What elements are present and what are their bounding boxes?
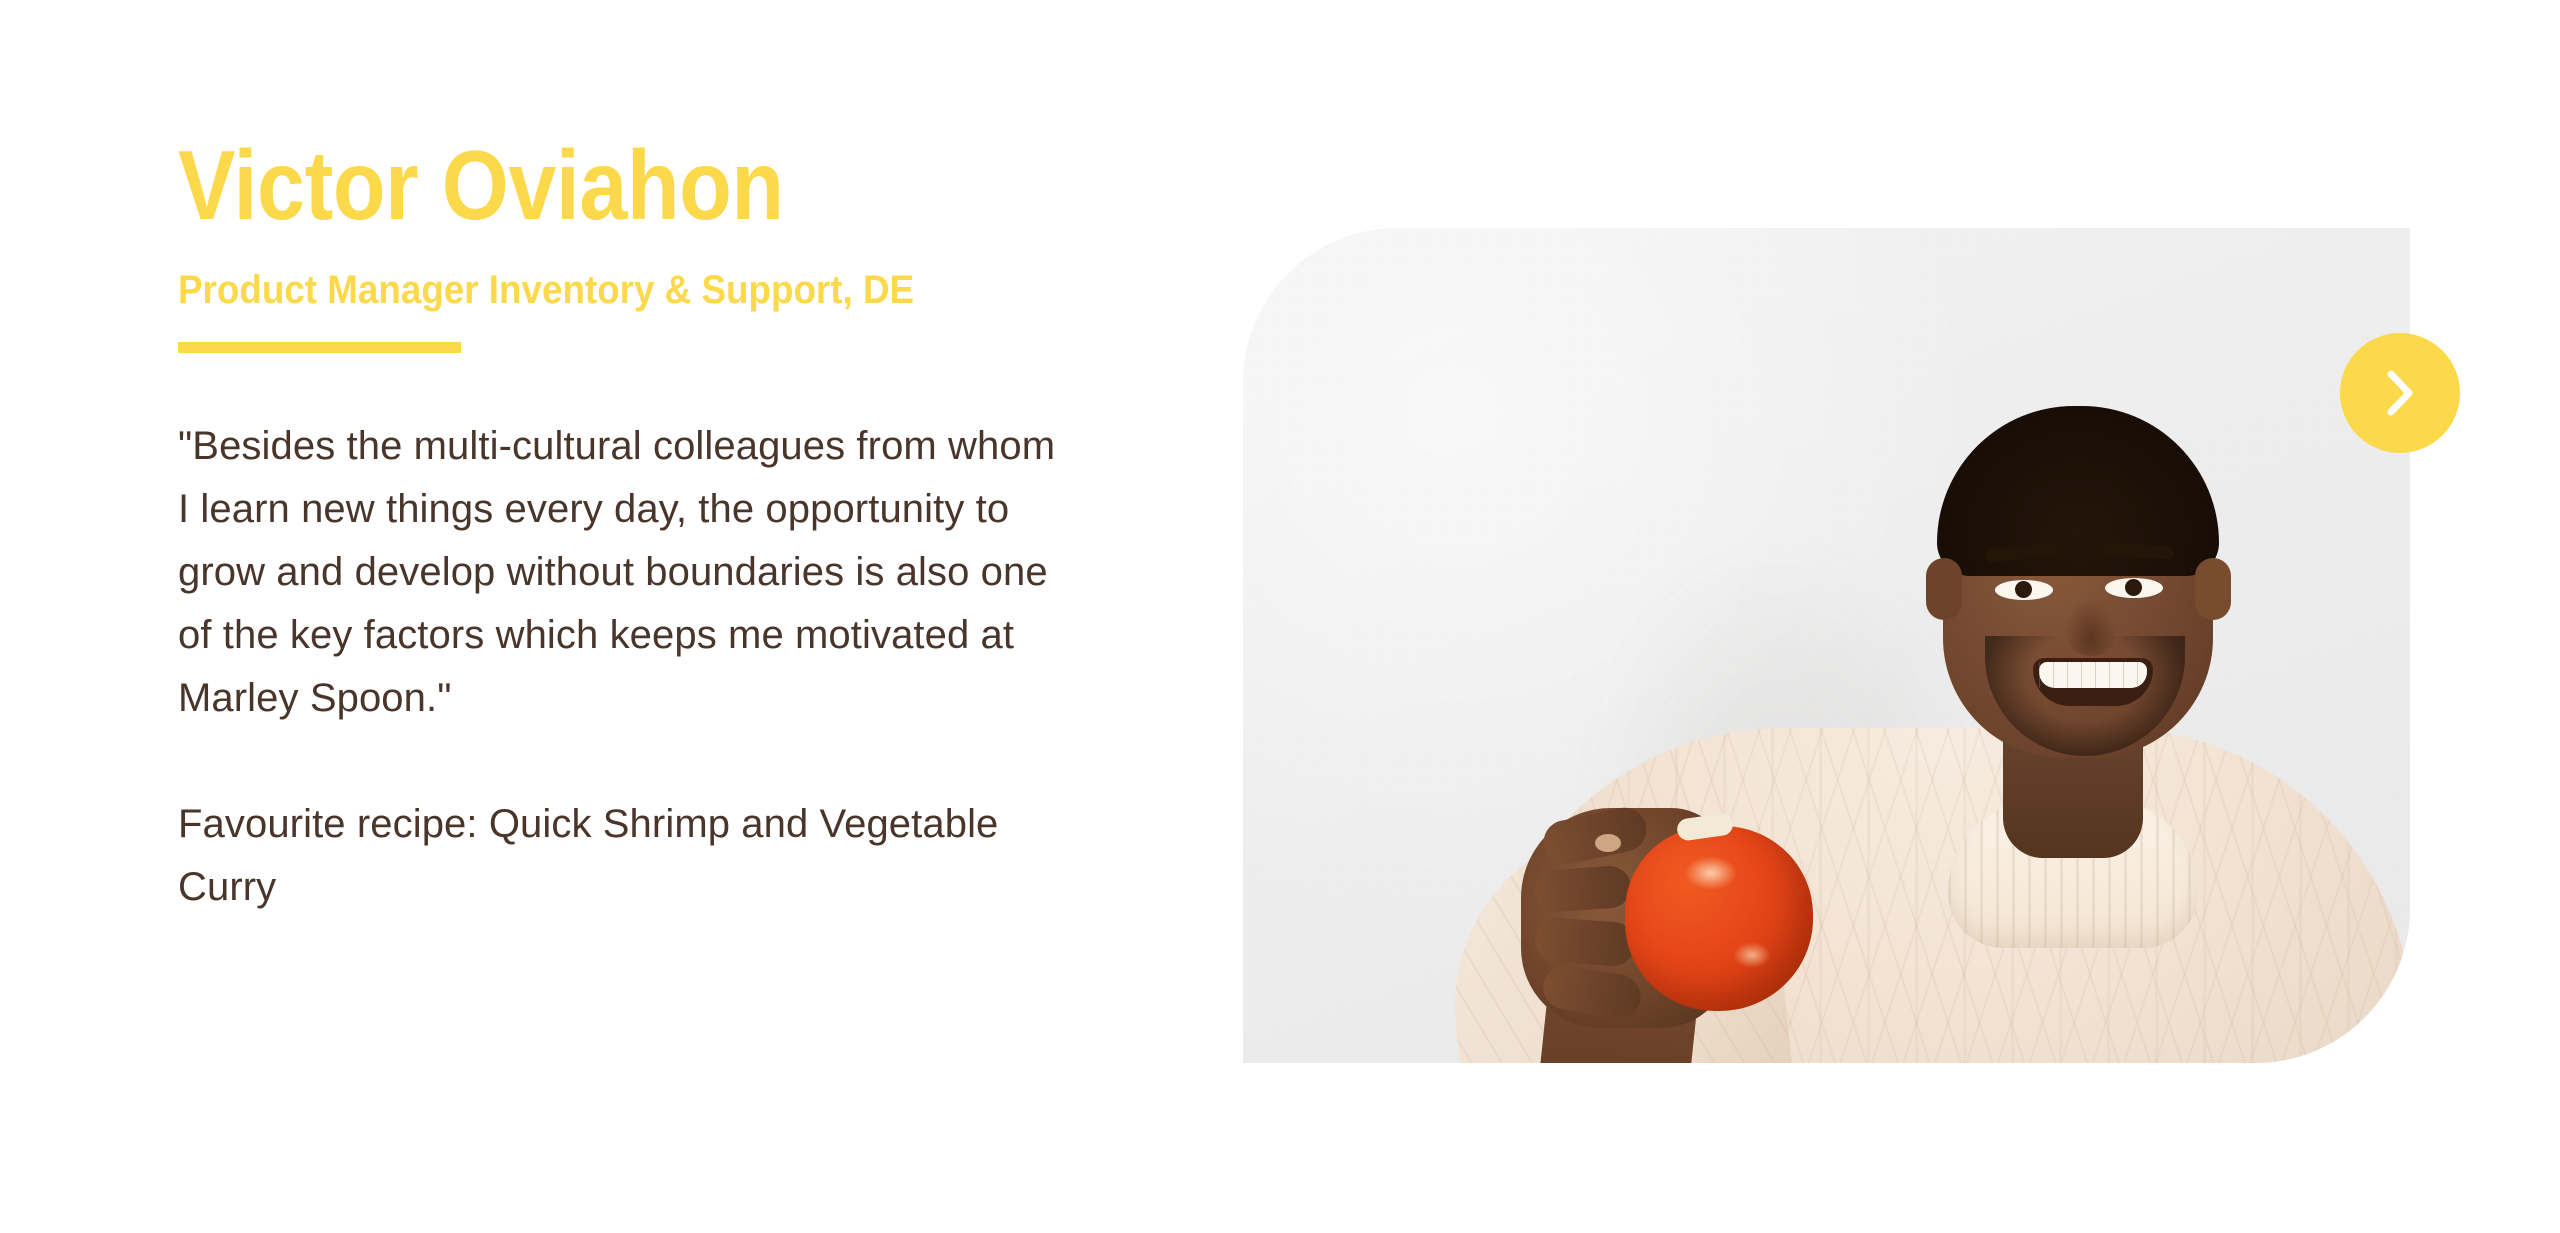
- left-pupil: [2015, 581, 2032, 598]
- paragraph-spacer: [178, 730, 1178, 793]
- accent-underline-rule: [178, 342, 461, 353]
- finger: [1534, 865, 1633, 914]
- left-eye: [1995, 580, 2053, 600]
- thumbnail-highlight: [1595, 834, 1621, 852]
- testimonial-text-column: Victor Oviahon Product Manager Inventory…: [178, 136, 1178, 919]
- hair: [1937, 406, 2219, 576]
- right-eye: [2105, 578, 2163, 598]
- person-name: Victor Oviahon: [178, 136, 1058, 234]
- right-ear: [2195, 558, 2231, 620]
- right-pupil: [2125, 579, 2142, 596]
- carousel-next-button[interactable]: [2340, 333, 2460, 453]
- left-ear: [1926, 558, 1962, 620]
- tomato: [1625, 826, 1813, 1011]
- tomato-highlight: [1685, 856, 1737, 890]
- portrait-illustration: [1243, 228, 2410, 1063]
- testimonial-quote: "Besides the multi-cultural colleagues f…: [178, 415, 1058, 730]
- chevron-right-icon: [2378, 367, 2422, 419]
- testimonial-slide: Victor Oviahon Product Manager Inventory…: [0, 0, 2560, 1233]
- teeth: [2039, 662, 2147, 688]
- tomato-highlight: [1733, 942, 1771, 968]
- portrait-photo-card: [1243, 228, 2410, 1063]
- smiling-mouth: [2033, 658, 2153, 706]
- person-role: Product Manager Inventory & Support, DE: [178, 268, 1098, 312]
- finger: [1534, 917, 1637, 968]
- favourite-recipe: Favourite recipe: Quick Shrimp and Veget…: [178, 793, 1058, 919]
